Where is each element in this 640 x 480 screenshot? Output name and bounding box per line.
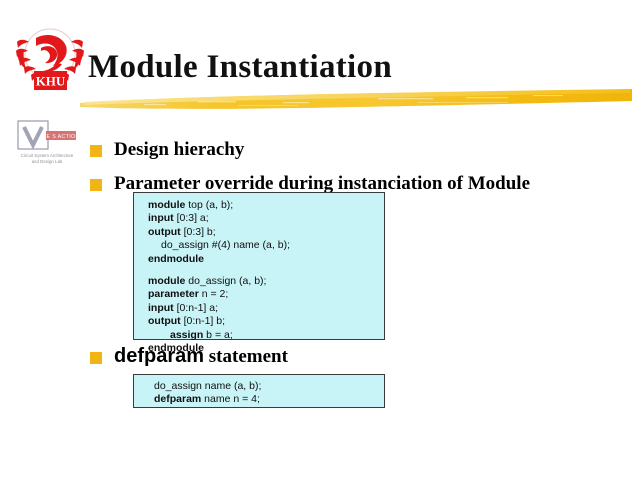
bullet-label-rest: statement [209,346,288,367]
svg-text:CE S ACTION: CE S ACTION [42,134,79,140]
department-lab-logo: CE S ACTION Circuit System Architecture … [13,119,81,169]
svg-text:KHU: KHU [36,74,66,89]
code-text: do_assign #(4) name (a, b); [161,239,290,251]
bullet-item-defparam-statement: defparam statement [90,345,288,368]
square-bullet-icon [90,179,102,191]
code-keyword: output [148,315,181,327]
code-text: n = 2; [199,288,228,300]
code-text: b = a; [203,329,232,341]
square-bullet-icon [90,145,102,157]
code-keyword: parameter [148,288,199,300]
bullet-label: defparam statement [114,345,288,368]
code-keyword: module [148,275,185,287]
bullet-label: Design hierachy [114,138,244,161]
code-text: [0:n-1] b; [181,315,225,327]
code-text: [0:3] b; [181,226,216,238]
code-keyword: input [148,212,174,224]
square-bullet-icon [90,352,102,364]
svg-text:Circuit System Architecture: Circuit System Architecture [21,153,74,158]
code-keyword: input [148,302,174,314]
title-brushstroke-divider [78,86,634,116]
code-text: do_assign name (a, b); [154,380,261,392]
presentation-slide: KHU Module Instantiation [0,0,640,480]
code-text: name n = 4; [201,393,260,405]
khu-university-emblem-logo: KHU [12,24,88,96]
code-keyword: defparam [154,393,201,405]
bullet-item-design-hierarchy: Design hierachy [90,138,244,161]
code-keyword: output [148,226,181,238]
code-keyword: endmodule [148,253,204,265]
code-keyword: module [148,199,185,211]
svg-text:and Design Lab: and Design Lab [32,159,63,164]
code-text: [0:3] a; [174,212,209,224]
code-text: top (a, b); [185,199,233,211]
bullet-keyword: defparam [114,345,204,367]
code-text: do_assign (a, b); [185,275,266,287]
code-block-module-instantiation: module top (a, b); input [0:3] a; output… [133,192,385,340]
code-blank-line [148,266,376,275]
code-text: [0:n-1] a; [174,302,218,314]
page-title: Module Instantiation [88,48,392,86]
code-keyword: assign [170,329,203,341]
code-block-defparam: do_assign name (a, b); defparam name n =… [133,374,385,408]
